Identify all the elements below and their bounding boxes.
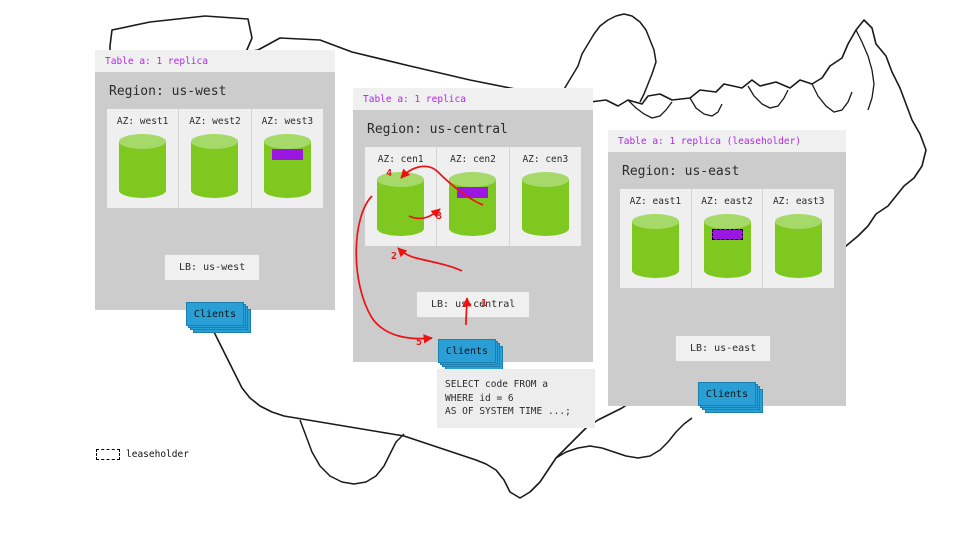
replica-cylinder-west2[interactable] (191, 134, 238, 198)
flow-step-label-3: 3 (436, 211, 442, 222)
cylinder-top (377, 172, 424, 187)
replica-cylinder-west3[interactable] (264, 134, 311, 198)
clients-stack-us-west[interactable]: Clients (186, 302, 244, 326)
az-label-east3: AZ: east3 (773, 196, 824, 207)
replica-cylinder-east3[interactable] (775, 214, 822, 278)
clients-stack-us-east[interactable]: Clients (698, 382, 756, 406)
clients-label-us-east: Clients (698, 382, 756, 406)
cylinder-top (632, 214, 679, 229)
az-label-east1: AZ: east1 (630, 196, 681, 207)
replica-cylinder-cen1[interactable] (377, 172, 424, 236)
az-card-west3[interactable]: AZ: west3 (252, 109, 323, 208)
az-label-west3: AZ: west3 (262, 116, 313, 127)
load-balancer-us-central[interactable]: LB: us-central (416, 291, 530, 318)
az-row-us-east: AZ: east1 AZ: east2 (620, 189, 834, 288)
az-label-west2: AZ: west2 (189, 116, 240, 127)
leaseholder-marker-west3 (272, 149, 303, 160)
replica-cylinder-west1[interactable] (119, 134, 166, 198)
legend: leaseholder (96, 449, 189, 460)
cylinder-top (264, 134, 311, 149)
az-card-east2[interactable]: AZ: east2 (692, 189, 764, 288)
replica-caption-us-west: Table a: 1 replica (95, 50, 335, 72)
replica-cylinder-east1[interactable] (632, 214, 679, 278)
cylinder-top (775, 214, 822, 229)
clients-label-us-west: Clients (186, 302, 244, 326)
az-label-east2: AZ: east2 (701, 196, 752, 207)
region-title-us-west: Region: us-west (95, 72, 335, 109)
az-card-cen3[interactable]: AZ: cen3 (510, 147, 581, 246)
region-panel-us-west: Table a: 1 replica Region: us-west AZ: w… (95, 50, 335, 310)
dashed-rect-icon (96, 449, 120, 460)
az-card-east1[interactable]: AZ: east1 (620, 189, 692, 288)
az-card-west1[interactable]: AZ: west1 (107, 109, 179, 208)
replica-cylinder-east2[interactable] (704, 214, 751, 278)
az-card-east3[interactable]: AZ: east3 (763, 189, 834, 288)
diagram-canvas: Table a: 1 replica Region: us-west AZ: w… (0, 0, 960, 540)
az-label-cen2: AZ: cen2 (450, 154, 496, 165)
az-label-cen1: AZ: cen1 (378, 154, 424, 165)
replica-cylinder-cen3[interactable] (522, 172, 569, 236)
region-panel-us-central: Table a: 1 replica Region: us-central AZ… (353, 88, 593, 362)
region-title-us-central: Region: us-central (353, 110, 593, 147)
az-label-west1: AZ: west1 (117, 116, 168, 127)
region-panel-us-east: Table a: 1 replica (leaseholder) Region:… (608, 130, 846, 406)
az-card-cen2[interactable]: AZ: cen2 (437, 147, 509, 246)
az-card-west2[interactable]: AZ: west2 (179, 109, 251, 208)
sql-query-box: SELECT code FROM a WHERE id = 6 AS OF SY… (437, 369, 595, 428)
cylinder-top (704, 214, 751, 229)
cylinder-top (522, 172, 569, 187)
replica-caption-us-central: Table a: 1 replica (353, 88, 593, 110)
flow-step-label-1: 1 (481, 298, 487, 309)
leaseholder-marker-east2 (712, 229, 743, 240)
az-label-cen3: AZ: cen3 (522, 154, 568, 165)
az-row-us-central: AZ: cen1 AZ: cen2 (365, 147, 581, 246)
az-card-cen1[interactable]: AZ: cen1 (365, 147, 437, 246)
flow-step-label-4: 4 (386, 168, 392, 179)
az-row-us-west: AZ: west1 AZ: west2 AZ (107, 109, 323, 208)
replica-caption-us-east: Table a: 1 replica (leaseholder) (608, 130, 846, 152)
load-balancer-us-west[interactable]: LB: us-west (164, 254, 260, 281)
clients-label-us-central: Clients (438, 339, 496, 363)
replica-cylinder-cen2[interactable] (449, 172, 496, 236)
clients-stack-us-central[interactable]: Clients (438, 339, 496, 363)
flow-step-label-2: 2 (391, 251, 397, 262)
cylinder-top (119, 134, 166, 149)
flow-step-label-5: 5 (416, 337, 422, 348)
load-balancer-us-east[interactable]: LB: us-east (675, 335, 771, 362)
region-title-us-east: Region: us-east (608, 152, 846, 189)
legend-label: leaseholder (126, 449, 189, 460)
leaseholder-marker-cen2 (457, 187, 488, 198)
